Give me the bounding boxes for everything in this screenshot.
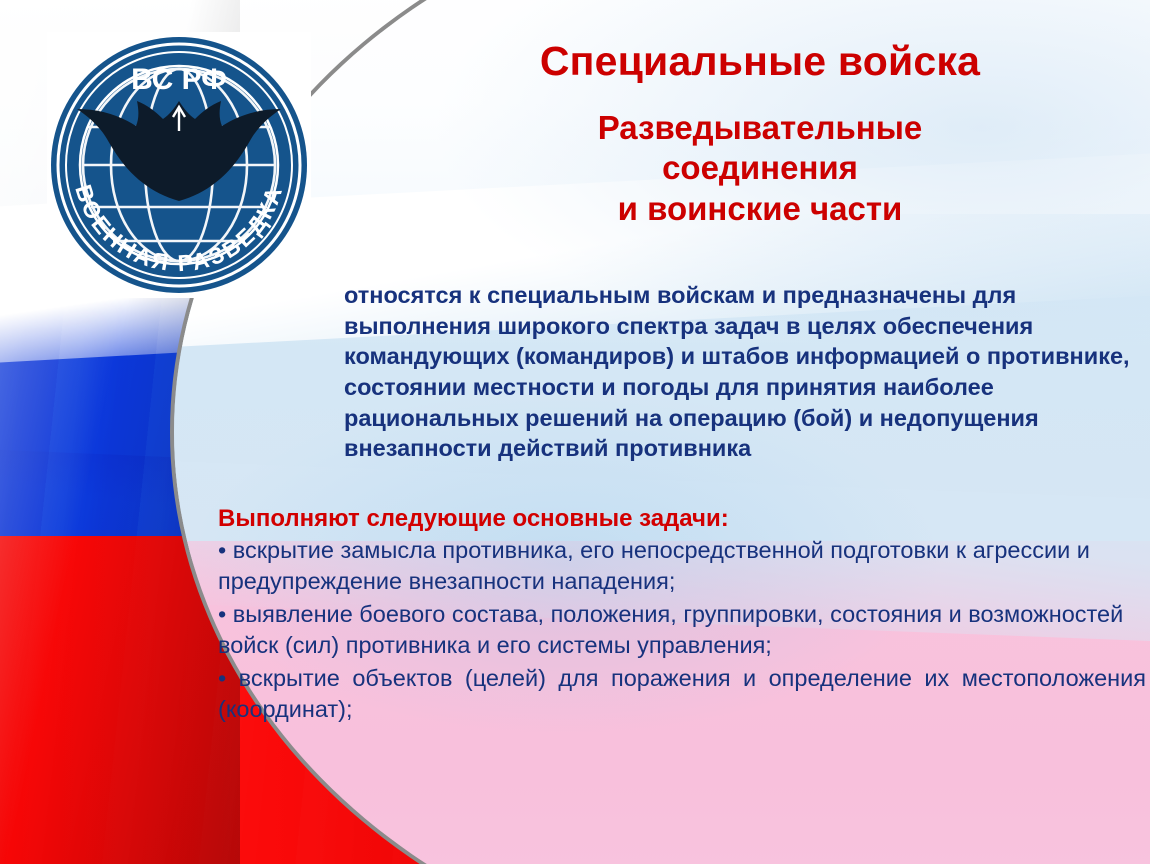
task-item: • выявление боевого состава, положения, …	[218, 599, 1146, 662]
task-item: • вскрытие объектов (целей) для поражени…	[218, 663, 1146, 726]
subtitle-line-1: Разведывательные	[455, 108, 1065, 148]
emblem-container: ВС РФ ВОЕННАЯ РАЗВЕДКА	[47, 32, 311, 298]
tasks-list: • вскрытие замысла противника, его непос…	[218, 535, 1146, 727]
military-intelligence-emblem-icon: ВС РФ ВОЕННАЯ РАЗВЕДКА	[47, 32, 311, 298]
slide-subtitle: Разведывательные соединения и воинские ч…	[455, 108, 1065, 229]
description-paragraph: относятся к специальным войскам и предна…	[344, 280, 1139, 464]
slide-title: Специальные войска	[415, 40, 1105, 83]
subtitle-line-2: соединения	[455, 148, 1065, 188]
task-item: • вскрытие замысла противника, его непос…	[218, 535, 1146, 598]
emblem-top-text: ВС РФ	[131, 63, 227, 96]
slide-canvas: ВС РФ ВОЕННАЯ РАЗВЕДКА Специальные войск…	[0, 0, 1150, 864]
subtitle-line-3: и воинские части	[455, 189, 1065, 229]
tasks-heading: Выполняют следующие основные задачи:	[218, 505, 1118, 534]
